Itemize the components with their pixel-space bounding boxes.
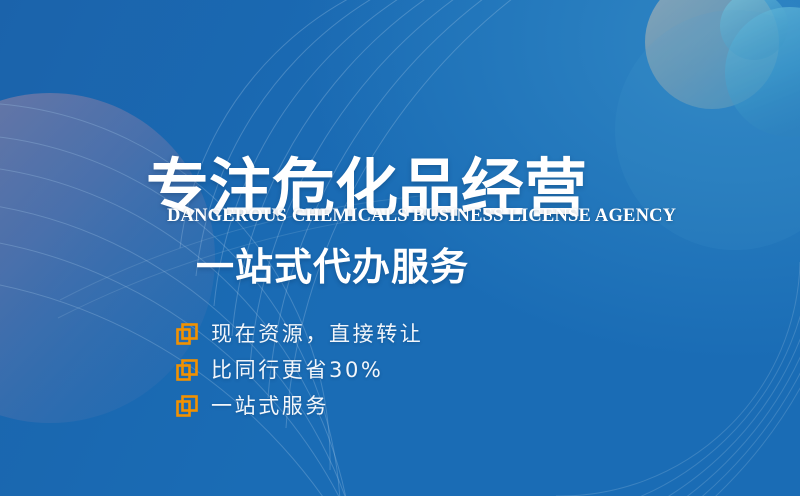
english-subtitle: DANGEROUS CHEMICALS BUSINESS LICENSE AGE… <box>167 205 676 227</box>
list-item: 现在资源，直接转让 <box>176 316 423 351</box>
list-item-label: 比同行更省30% <box>211 358 383 382</box>
chinese-subtitle: 一站式代办服务 <box>196 244 469 290</box>
list-item-label: 一站式服务 <box>211 394 329 418</box>
overlapping-squares-icon <box>176 395 198 417</box>
list-item: 比同行更省30% <box>176 352 423 387</box>
feature-list: 现在资源，直接转让 比同行更省30% 一站式服务 <box>176 316 423 424</box>
list-item-label: 现在资源，直接转让 <box>211 322 423 346</box>
overlapping-squares-icon <box>176 359 198 381</box>
banner-content: 专注危化品经营 DANGEROUS CHEMICALS BUSINESS LIC… <box>0 0 800 496</box>
promotional-banner: 专注危化品经营 DANGEROUS CHEMICALS BUSINESS LIC… <box>0 0 800 496</box>
overlapping-squares-icon <box>176 323 198 345</box>
list-item: 一站式服务 <box>176 388 423 423</box>
